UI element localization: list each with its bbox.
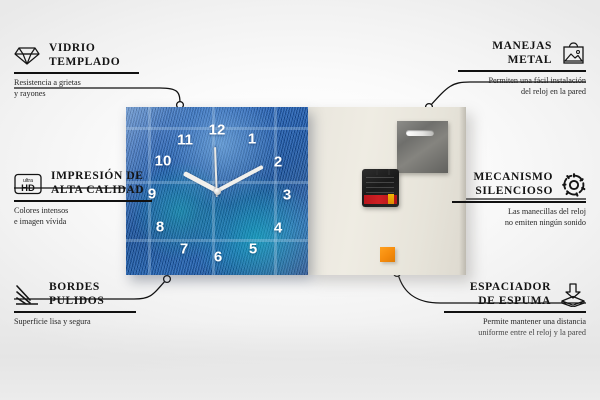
feature-title-line1: VIDRIO — [49, 42, 120, 56]
foam-spacer — [380, 247, 395, 262]
clock-numeral-7: 7 — [180, 242, 188, 257]
mechanism-label — [364, 195, 397, 204]
feature-desc-line1: Permiten una fácil instalación — [458, 76, 586, 87]
feature-desc-line2: e imagen vívida — [14, 217, 152, 228]
feature-rule — [458, 70, 586, 72]
feature-desc-line2: del reloj en la pared — [458, 87, 586, 98]
feature-title-line2: PULIDOS — [49, 295, 104, 309]
feature-title-line1: ESPACIADOR — [470, 281, 551, 295]
feature-title-line2: DE ESPUMA — [470, 295, 551, 309]
feature-title-line1: MANEJAS — [492, 40, 552, 54]
ultra-hd-icon-main-text: HD — [21, 183, 35, 194]
clock-numeral-12: 12 — [209, 123, 226, 138]
feature-desc-line1: Colores intensos — [14, 206, 152, 217]
feature-title-line2: METAL — [492, 54, 552, 68]
endpoint-bordes-pulidos — [164, 276, 171, 283]
picture-frame-hanger-icon — [561, 42, 586, 65]
feature-rule — [14, 311, 136, 313]
feature-title-line2: ALTA CALIDAD — [51, 184, 144, 198]
clock-numeral-2: 2 — [274, 155, 282, 170]
feature-desc-line2: no emiten ningún sonido — [452, 218, 586, 229]
gear-icon — [562, 173, 586, 197]
square-wall-clock: 12 1 2 3 4 5 6 7 8 9 10 11 — [126, 107, 308, 275]
foam-spacer-icon — [560, 283, 586, 307]
feature-rule — [452, 201, 586, 203]
feature-title-line1: MECANISMO — [473, 171, 553, 185]
feature-desc-line1: Las manecillas del reloj — [452, 207, 586, 218]
product-group: 12 1 2 3 4 5 6 7 8 9 10 11 — [126, 107, 466, 275]
infographic-canvas: 12 1 2 3 4 5 6 7 8 9 10 11 — [0, 0, 600, 400]
feature-title-line1: IMPRESIÓN DE — [51, 170, 144, 184]
clock-numeral-11: 11 — [177, 133, 193, 148]
feature-rule — [14, 72, 139, 74]
mechanism-shaft — [376, 169, 390, 175]
feature-desc-line1: Permite mantener una distancia — [444, 317, 586, 328]
feature-title-line1: BORDES — [49, 281, 104, 295]
clock-numeral-8: 8 — [156, 220, 164, 235]
clock-numeral-5: 5 — [249, 242, 257, 257]
clock-numeral-4: 4 — [274, 221, 282, 236]
feature-manejas-metal: MANEJAS METAL Permiten una fácil instala… — [458, 40, 586, 97]
feature-desc-line2: y rayones — [14, 89, 139, 100]
feature-impresion-alta-calidad: ultra HD IMPRESIÓN DE ALTA CALIDAD Color… — [14, 170, 152, 227]
hanger-slot — [406, 130, 434, 136]
clock-numeral-6: 6 — [214, 250, 222, 265]
ultra-hd-icon: ultra HD — [14, 173, 42, 195]
quartz-mechanism — [362, 169, 399, 207]
feature-bordes-pulidos: BORDES PULIDOS Superficie lisa y segura — [14, 281, 136, 328]
clock-numeral-1: 1 — [248, 132, 256, 147]
feature-rule — [444, 311, 586, 313]
clock-back-panel — [307, 107, 466, 275]
feature-espaciador-espuma: ESPACIADOR DE ESPUMA Permite mantener un… — [444, 281, 586, 338]
clock-numeral-3: 3 — [283, 188, 291, 203]
feature-mecanismo-silencioso: MECANISMO SILENCIOSO — [452, 171, 586, 228]
clock-center-cap — [214, 188, 221, 195]
polished-edges-icon — [14, 284, 40, 305]
feature-title-line2: SILENCIOSO — [473, 185, 553, 199]
feature-desc-line2: uniforme entre el reloj y la pared — [444, 328, 586, 339]
metal-hanger — [397, 121, 448, 173]
feature-vidrio-templado: VIDRIO TEMPLADO Resistencia a grietas y … — [14, 42, 139, 99]
feature-desc-line1: Resistencia a grietas — [14, 78, 139, 89]
clock-numeral-10: 10 — [155, 154, 172, 169]
mechanism-detail — [366, 177, 394, 193]
diamond-icon — [14, 45, 40, 66]
feature-rule — [14, 200, 152, 202]
feature-title-line2: TEMPLADO — [49, 56, 120, 70]
feature-desc-line1: Superficie lisa y segura — [14, 317, 136, 328]
